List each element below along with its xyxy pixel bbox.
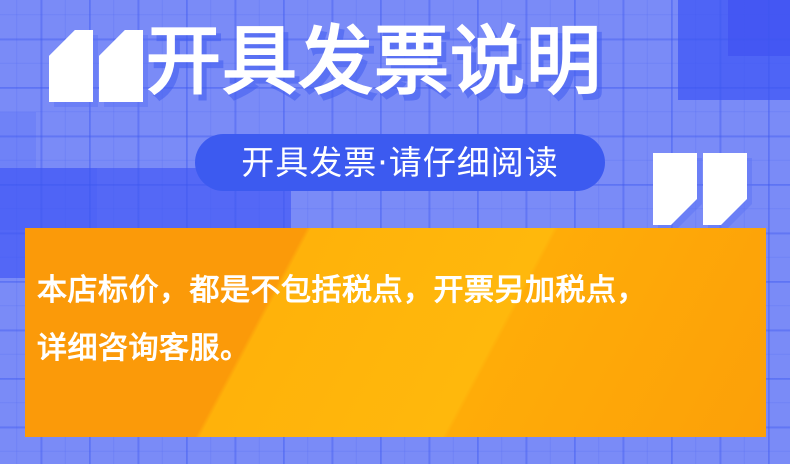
subtitle-badge-label: 开具发票·请仔细阅读	[241, 146, 559, 179]
decor-block-top-right-inner	[728, 0, 790, 56]
notice-panel: 本店标价，都是不包括税点，开票另加税点， 详细咨询客服。	[25, 228, 766, 437]
invoice-notice-banner: 开具发票说明 开具发票·请仔细阅读 本店标价，都是不包括税点，开票另加税点， 详…	[0, 0, 790, 464]
quote-open-icon	[47, 30, 143, 102]
decor-block-left-lower	[0, 230, 25, 278]
notice-line-2: 详细咨询客服。	[37, 320, 756, 378]
subtitle-badge: 开具发票·请仔细阅读	[195, 134, 605, 191]
decor-block-left-dark	[0, 168, 97, 230]
notice-text: 本店标价，都是不包括税点，开票另加税点， 详细咨询客服。	[37, 262, 756, 378]
quote-close-icon	[651, 153, 747, 225]
page-title: 开具发票说明	[146, 24, 602, 99]
decor-block-left-upper	[0, 112, 36, 168]
notice-line-1: 本店标价，都是不包括税点，开票另加税点，	[37, 262, 756, 320]
